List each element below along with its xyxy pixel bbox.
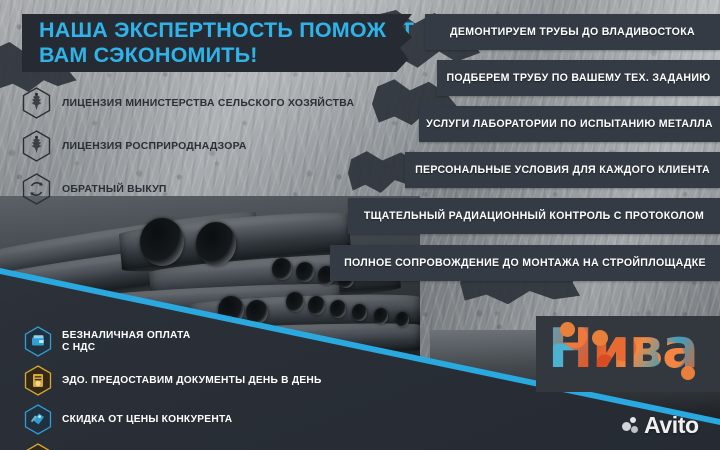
benefit-label: БЕЗНАЛИЧНАЯ ОПЛАТА С НДС xyxy=(62,330,191,354)
license-row: ЛИЦЕНЗИЯ РОСПРИРОДНАДЗОРА xyxy=(22,129,354,163)
service-bar-label: ПОДБЕРЕМ ТРУБУ ПО ВАШЕМУ ТЕХ. ЗАДАНИЮ xyxy=(433,72,720,84)
service-bar: ДЕМОНТИРУЕМ ТРУБЫ ДО ВЛАДИВОСТОКА xyxy=(425,14,720,50)
license-row: ЛИЦЕНЗИЯ МИНИСТЕРСТВА СЕЛЬСКОГО ХОЗЯЙСТВ… xyxy=(22,86,354,120)
circular-arrows-icon xyxy=(22,173,51,205)
document-stamp-icon xyxy=(24,365,52,396)
wallet-card-icon xyxy=(24,326,52,357)
advertisement-banner: НАША ЭКСПЕРТНОСТЬ ПОМОЖЕТ ВАМ СЭКОНОМИТЬ… xyxy=(0,0,720,450)
eagle-emblem-icon xyxy=(22,87,51,119)
logo-accent-dot xyxy=(560,322,575,337)
benefit-row: ЭДО. ПРЕДОСТАВИМ ДОКУМЕНТЫ ДЕНЬ В ДЕНЬ xyxy=(24,365,379,396)
license-label: ЛИЦЕНЗИЯ РОСПРИРОДНАДЗОРА xyxy=(62,141,247,152)
service-bar: УСЛУГИ ЛАБОРАТОРИИ ПО ИСПЫТАНИЮ МЕТАЛЛА xyxy=(419,106,720,142)
camera-coin-icon xyxy=(24,443,52,450)
benefit-label: СКИДКА ОТ ЦЕНЫ КОНКУРЕНТА xyxy=(62,414,232,426)
benefit-row: СКИДКА ОТ ЦЕНЫ КОНКУРЕНТА xyxy=(24,404,379,435)
service-bar-label: ДЕМОНТИРУЕМ ТРУБЫ ДО ВЛАДИВОСТОКА xyxy=(436,26,709,38)
license-label: ЛИЦЕНЗИЯ МИНИСТЕРСТВА СЕЛЬСКОГО ХОЗЯЙСТВ… xyxy=(62,98,354,109)
license-list: ЛИЦЕНЗИЯ МИНИСТЕРСТВА СЕЛЬСКОГО ХОЗЯЙСТВ… xyxy=(22,86,354,206)
headline-line-2: ВАМ СЭКОНОМИТЬ! xyxy=(39,43,392,68)
service-bar-label: ПОЛНОЕ СОПРОВОЖДЕНИЕ ДО МОНТАЖА НА СТРОЙ… xyxy=(330,257,720,269)
avito-wordmark: Avito xyxy=(644,412,699,439)
benefits-list: БЕЗНАЛИЧНАЯ ОПЛАТА С НДС ЭДО. ПРЕДОСТАВИ… xyxy=(24,326,379,450)
service-bar-label: УСЛУГИ ЛАБОРАТОРИИ ПО ИСПЫТАНИЮ МЕТАЛЛА xyxy=(412,118,720,130)
service-bar: ПОЛНОЕ СОПРОВОЖДЕНИЕ ДО МОНТАЖА НА СТРОЙ… xyxy=(330,245,720,281)
headline-banner: НАША ЭКСПЕРТНОСТЬ ПОМОЖЕТ ВАМ СЭКОНОМИТЬ… xyxy=(22,14,392,72)
service-bar: ПОДБЕРЕМ ТРУБУ ПО ВАШЕМУ ТЕХ. ЗАДАНИЮ xyxy=(437,60,720,96)
license-row: ОБРАТНЫЙ ВЫКУП xyxy=(22,172,354,206)
service-bar: ТЩАТЕЛЬНЫЙ РАДИАЦИОННЫЙ КОНТРОЛЬ С ПРОТО… xyxy=(348,198,720,234)
avito-watermark: Avito xyxy=(622,412,699,439)
avito-dots-icon xyxy=(622,417,640,435)
service-bar-label: ПЕРСОНАЛЬНЫЕ УСЛОВИЯ ДЛЯ КАЖДОГО КЛИЕНТА xyxy=(401,164,720,176)
license-label: ОБРАТНЫЙ ВЫКУП xyxy=(62,184,167,195)
headline-line-1: НАША ЭКСПЕРТНОСТЬ ПОМОЖЕТ xyxy=(39,18,392,43)
price-tag-icon xyxy=(24,404,52,435)
service-bar: ПЕРСОНАЛЬНЫЕ УСЛОВИЯ ДЛЯ КАЖДОГО КЛИЕНТА xyxy=(405,152,720,188)
benefit-row: ПРИ ПОКУПКЕ ПРЕДОСТАВЛЯЕМ ФОТО/ВИДЕО СО … xyxy=(24,443,379,450)
logo-accent-dot xyxy=(681,366,695,380)
eagle-emblem-icon xyxy=(22,130,51,162)
benefit-row: БЕЗНАЛИЧНАЯ ОПЛАТА С НДС xyxy=(24,326,379,357)
logo-accent-dot xyxy=(592,330,608,346)
service-bar-label: ТЩАТЕЛЬНЫЙ РАДИАЦИОННЫЙ КОНТРОЛЬ С ПРОТО… xyxy=(350,210,718,222)
benefit-label: ЭДО. ПРЕДОСТАВИМ ДОКУМЕНТЫ ДЕНЬ В ДЕНЬ xyxy=(62,375,322,387)
